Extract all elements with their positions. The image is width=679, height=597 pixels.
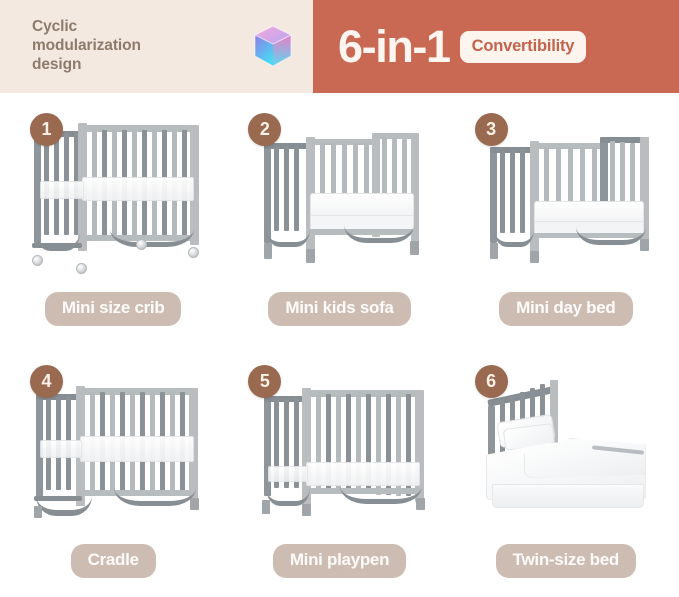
product-label-6: Twin-size bed (496, 544, 636, 578)
header-banner: Cyclic modularization design (0, 0, 679, 93)
header-left-panel: Cyclic modularization design (0, 0, 313, 93)
header-title: 6-in-1 (338, 24, 450, 69)
product-badge-6: 6 (475, 365, 508, 398)
product-label-5: Mini playpen (273, 544, 406, 578)
product-cell-1: 1 (0, 93, 226, 345)
product-figure-6: 6 (453, 345, 679, 530)
product-figure-3: 3 (453, 93, 679, 278)
gradient-cube-icon (251, 22, 295, 70)
product-figure-2: 2 (226, 93, 452, 278)
product-label-4: Cradle (71, 544, 156, 578)
convertibility-badge: Convertibility (460, 31, 587, 63)
header-tagline: Cyclic modularization design (32, 18, 217, 74)
product-figure-4: 4 (0, 345, 226, 530)
product-figure-5: 5 (226, 345, 452, 530)
product-cell-3: 3 (453, 93, 679, 345)
product-cell-5: 5 (226, 345, 452, 597)
product-badge-1: 1 (30, 113, 63, 146)
product-cell-4: 4 (0, 345, 226, 597)
product-badge-4: 4 (30, 365, 63, 398)
product-badge-3: 3 (475, 113, 508, 146)
product-label-1: Mini size crib (45, 292, 182, 326)
product-label-3: Mini day bed (499, 292, 632, 326)
header-right-panel: 6-in-1 Convertibility (313, 0, 679, 93)
product-cell-2: 2 (226, 93, 452, 345)
product-label-2: Mini kids sofa (268, 292, 410, 326)
product-figure-1: 1 (0, 93, 226, 278)
product-grid: 1 (0, 93, 679, 597)
product-cell-6: 6 Twin (453, 345, 679, 597)
